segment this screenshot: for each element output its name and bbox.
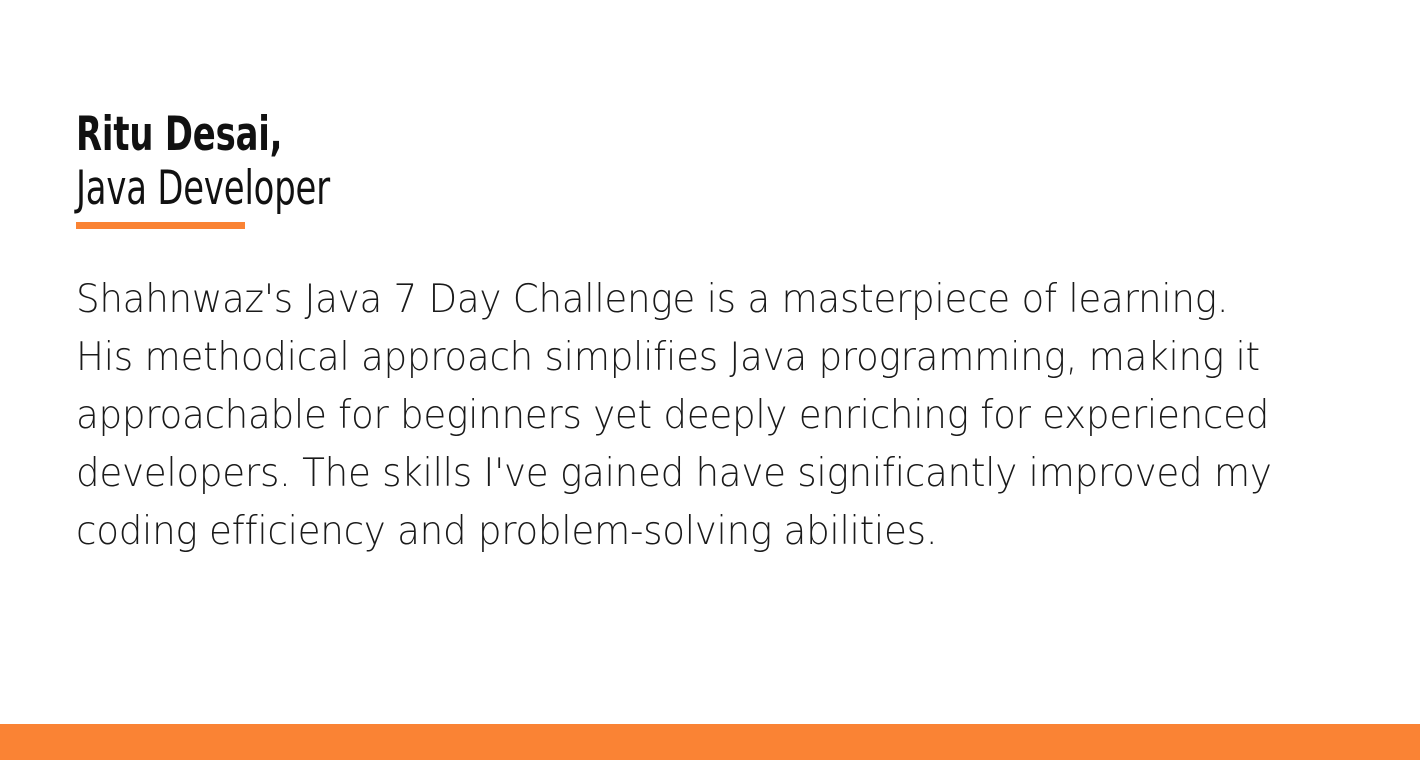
author-name: Ritu Desai, [76,108,796,162]
footer-accent-bar [0,724,1420,760]
testimonial-quote: Shahnwaz's Java 7 Day Challenge is a mas… [76,271,1283,561]
accent-underline [76,222,245,229]
author-block: Ritu Desai, Java Developer [76,108,976,216]
author-role: Java Developer [76,162,796,216]
testimonial-slide: Ritu Desai, Java Developer Shahnwaz's Ja… [0,0,1420,760]
